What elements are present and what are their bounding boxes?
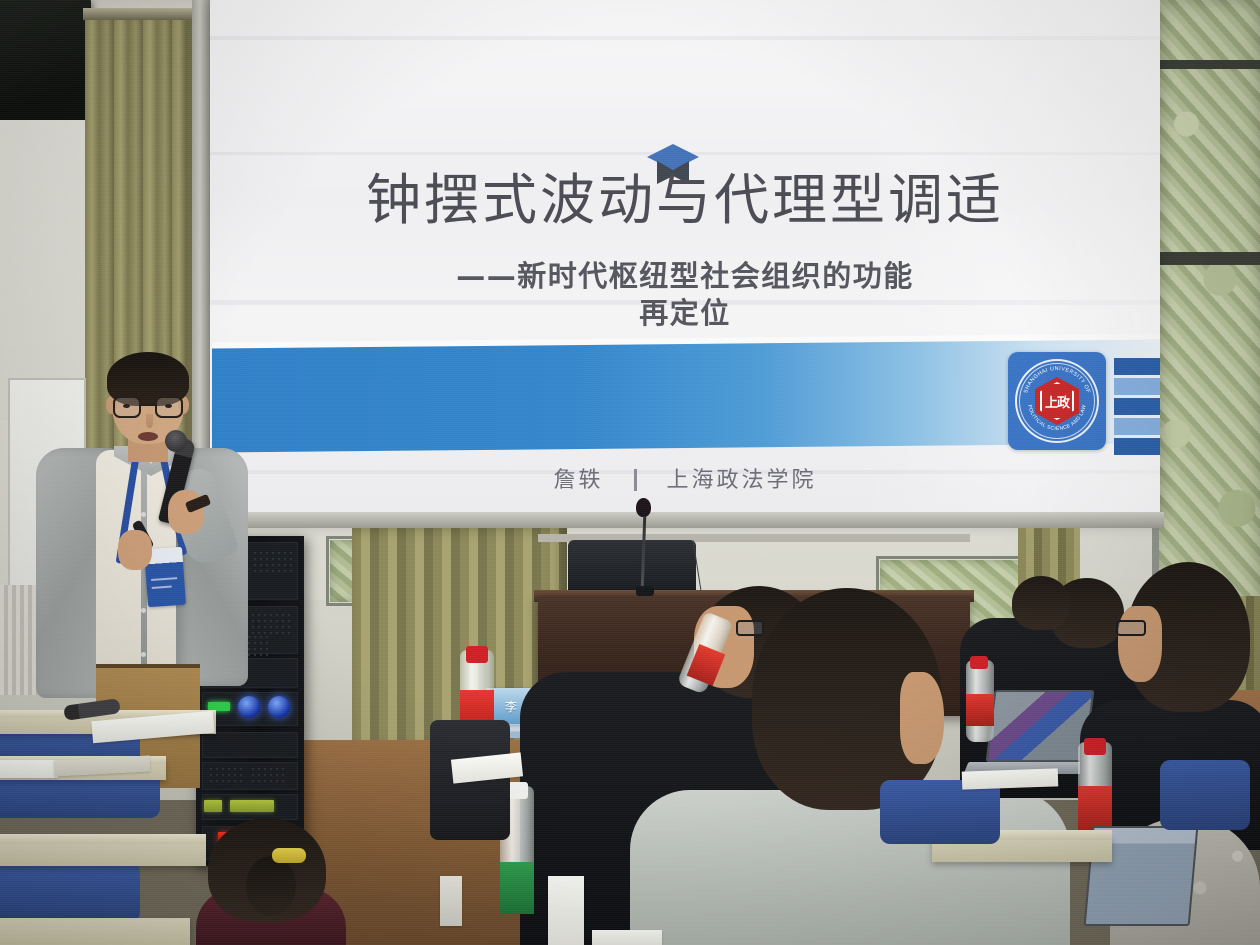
papers-on-desk xyxy=(0,760,58,778)
window-right xyxy=(1155,0,1260,620)
decor-bar xyxy=(1114,438,1160,455)
presenter-nose xyxy=(146,414,153,428)
patch-bay-holes xyxy=(250,766,286,784)
chair-row-3 xyxy=(0,862,140,922)
jacket-button xyxy=(141,652,146,657)
attendee-head xyxy=(1012,576,1070,630)
jacket-button xyxy=(141,608,146,613)
lecture-hall-photo: 钟摆式波动与代理型调适 ——新时代枢纽型社会组织的功能 再定位 SHANGHAI… xyxy=(0,0,1260,945)
screen-bottom-rail xyxy=(206,512,1164,528)
presenter-affiliation: 上海政法学院 xyxy=(667,468,817,493)
curtain-rod-left xyxy=(83,8,201,20)
decor-bar xyxy=(1114,418,1160,435)
slide-presenter-credit: 詹轶 上海政法学院 xyxy=(210,462,1160,494)
jacket-button xyxy=(141,512,146,517)
badge-line xyxy=(151,577,177,581)
gooseneck-microphone-base xyxy=(636,586,654,596)
decor-bar xyxy=(1114,358,1160,375)
attendee-body xyxy=(630,790,1070,945)
badge-line xyxy=(152,586,172,589)
bottle-cap xyxy=(970,656,988,669)
glasses-bridge xyxy=(141,404,155,406)
bottle-label xyxy=(966,694,994,726)
university-logo: SHANGHAI UNIVERSITY OF POLITICAL SCIENCE… xyxy=(1008,352,1106,450)
decor-bar xyxy=(1114,398,1160,415)
slide-subtitle: ——新时代枢纽型社会组织的功能 再定位 xyxy=(210,258,1160,332)
attendee-hair-bun xyxy=(246,856,296,916)
presenter-eye-left xyxy=(123,404,130,408)
gooseneck-microphone-head xyxy=(636,498,651,517)
rack-lcd-small xyxy=(204,800,222,812)
tissue-pack xyxy=(548,876,584,945)
window-mullion-mid xyxy=(1155,252,1260,265)
attendee-ear-side xyxy=(900,672,944,764)
presenter-left-hand xyxy=(118,530,152,570)
rack-panel xyxy=(202,732,298,758)
chair-far-right xyxy=(1160,760,1250,830)
screen-wrinkle xyxy=(210,36,1160,40)
presenter-mouth xyxy=(138,432,158,441)
attendee-glasses xyxy=(736,620,764,636)
window-mullion-top xyxy=(1155,60,1260,69)
slide-title: 钟摆式波动与代理型调适 xyxy=(210,172,1160,229)
slide-decor-bars xyxy=(1114,358,1160,458)
rack-knob-right[interactable] xyxy=(268,696,290,718)
papers-on-desk-right xyxy=(962,768,1059,789)
decor-bar xyxy=(1114,378,1160,395)
desk-row-4 xyxy=(0,918,190,945)
presenter-eye-right xyxy=(165,404,172,408)
slide-subtitle-line-2: 再定位 xyxy=(210,295,1160,332)
presenter-eyebrow-right xyxy=(156,392,176,395)
cup xyxy=(440,876,462,926)
chair-foreground-right xyxy=(880,780,1000,844)
slide-subtitle-line-1: ——新时代枢纽型社会组织的功能 xyxy=(210,258,1160,295)
desk-edge-row-3 xyxy=(0,834,206,844)
bottle-label xyxy=(500,862,534,914)
patch-bay-holes xyxy=(208,766,244,784)
credit-divider xyxy=(634,469,637,491)
bottle-cap xyxy=(466,646,488,663)
papers-foreground xyxy=(592,930,662,945)
presenter-eyebrow-left xyxy=(118,392,138,395)
left-wall-panel xyxy=(0,120,92,420)
attendee-glasses xyxy=(1116,620,1146,636)
rack-lcd-display xyxy=(230,800,274,812)
logo-emblem-text: 上政 xyxy=(1040,382,1074,420)
presenter-name: 詹轶 xyxy=(553,468,603,493)
attendee-face xyxy=(1118,606,1162,682)
rack-vent-holes xyxy=(250,612,290,634)
attendee-hair-clip xyxy=(272,848,306,863)
rack-knob-left[interactable] xyxy=(238,696,260,718)
bottle-cap xyxy=(1084,738,1106,755)
rack-vent-holes xyxy=(252,550,292,572)
